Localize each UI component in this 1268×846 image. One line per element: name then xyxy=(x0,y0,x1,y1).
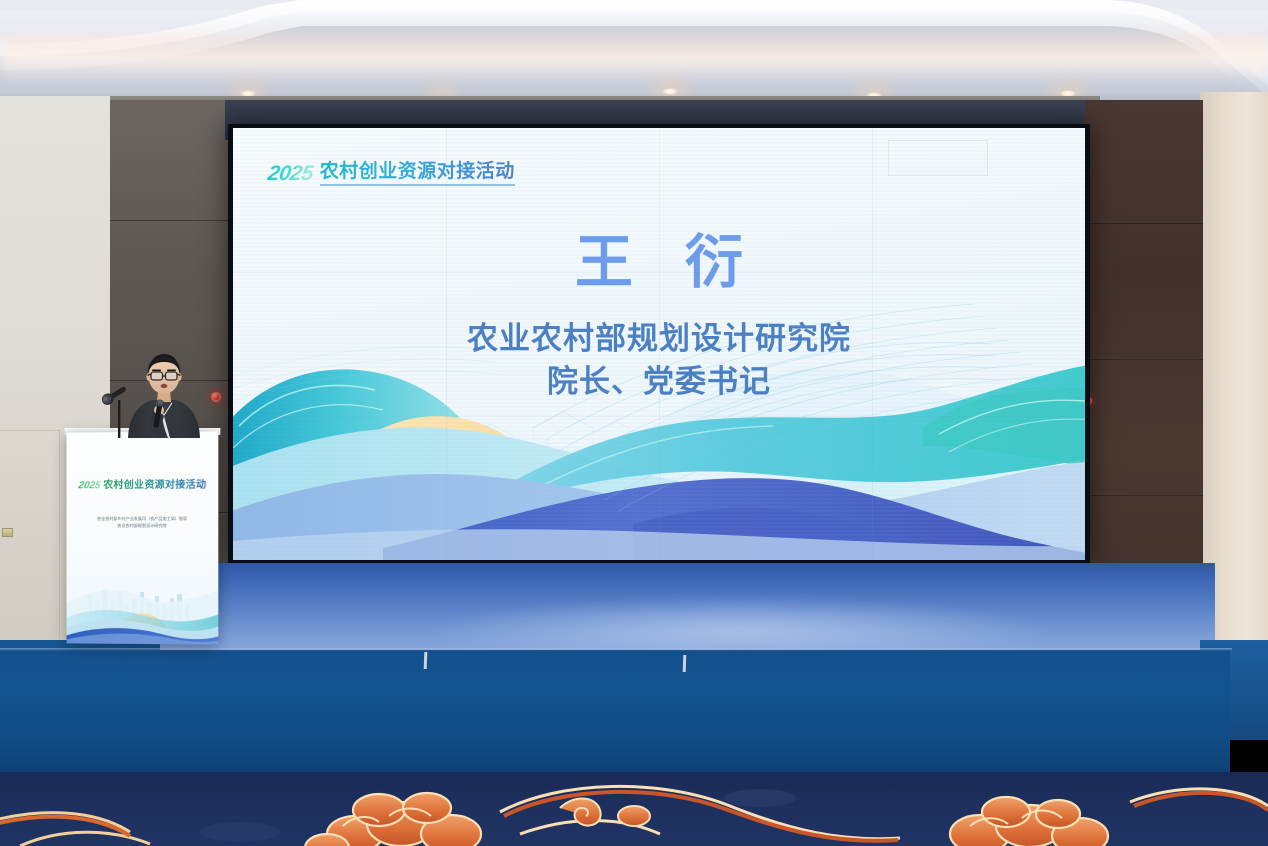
podium-event-logo: 2025 农村创业资源对接活动 xyxy=(67,476,219,492)
podium-wave-graphic xyxy=(67,574,219,645)
podium-organizer-text: 农业农村部乡村产业发展司（农产品加工局）指导 农业农村部规划设计研究院 xyxy=(70,516,214,530)
led-panel-seam xyxy=(233,416,1085,417)
led-panel-seam xyxy=(446,128,447,560)
led-panel-seam xyxy=(872,128,873,560)
floor-carpet xyxy=(0,772,1268,846)
led-panel-seam xyxy=(233,272,1085,273)
stage-front-face xyxy=(0,650,1230,780)
ceiling-cove-uplight-glow xyxy=(0,28,1268,80)
carpet-floral-pattern xyxy=(0,772,1268,846)
ceiling-downlight xyxy=(662,88,678,95)
led-screen[interactable]: 2025 农村创业资源对接活动 王 衍 农业农村部规划设计研究院 院长、党委书记 xyxy=(233,128,1085,560)
podium-logo-name: 农村创业资源对接活动 xyxy=(103,476,206,491)
stage-front-edge-highlight xyxy=(0,648,1232,651)
stage-floor-marker xyxy=(683,655,687,672)
podium: 2025 农村创业资源对接活动 农业农村部乡村产业发展司（农产品加工局）指导 农… xyxy=(67,431,219,644)
wall-panel-seam xyxy=(1085,358,1203,360)
red-indicator-light xyxy=(211,392,221,402)
speaker-person xyxy=(118,352,210,438)
wall-panel-seam xyxy=(1085,494,1203,496)
conference-hall-scene: 2025 农村创业资源对接活动 王 衍 农业农村部规划设计研究院 院长、党委书记 xyxy=(0,0,1268,846)
stone-seam xyxy=(110,220,240,221)
podium-logo-year: 2025 xyxy=(77,480,101,491)
event-logo-name: 农村创业资源对接活动 xyxy=(320,156,515,186)
led-panel-outline-mark xyxy=(888,140,988,176)
stage-light-sheen xyxy=(430,596,1050,654)
wall-switch-plate[interactable] xyxy=(2,528,13,537)
wall-panel-seam xyxy=(1085,222,1203,224)
event-logo-year: 2025 xyxy=(266,162,315,186)
stage-floor-marker xyxy=(424,652,428,669)
left-wall-lower-panel xyxy=(0,430,60,660)
podium-organizer-line-2: 农业农村部规划设计研究院 xyxy=(70,523,214,530)
event-logo: 2025 农村创业资源对接活动 xyxy=(268,156,515,186)
led-panel-seam xyxy=(659,128,660,560)
